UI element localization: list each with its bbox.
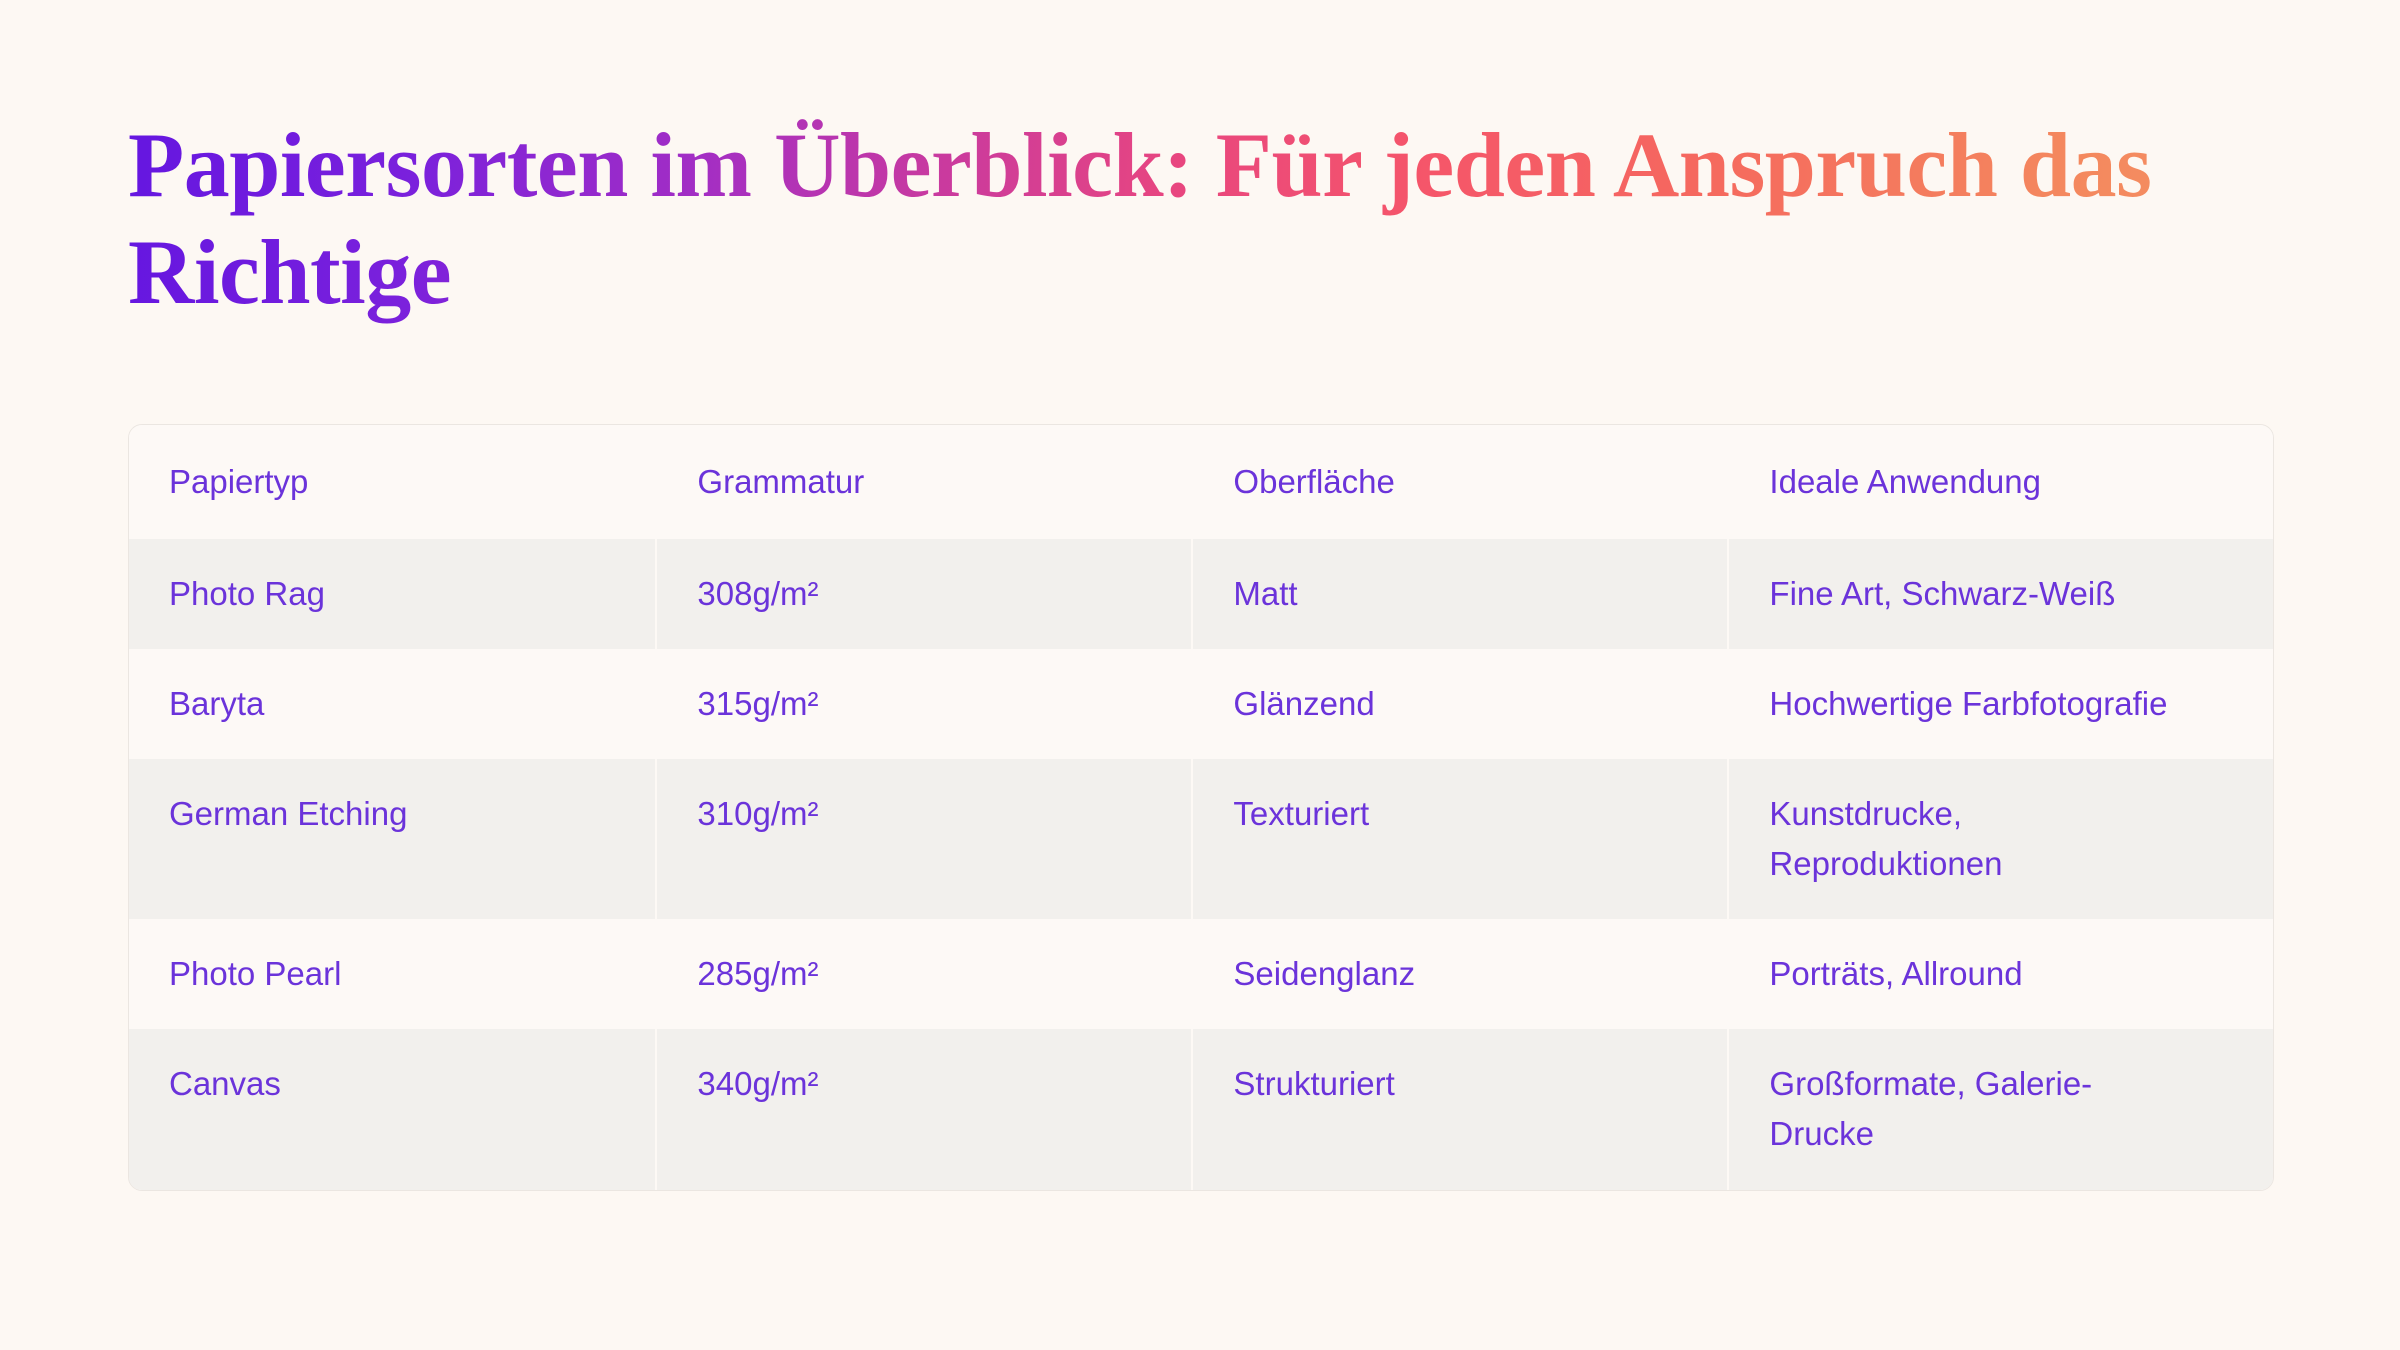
cell-oberflaeche: Seidenglanz: [1192, 919, 1728, 1029]
cell-papiertyp: Photo Rag: [129, 539, 656, 649]
cell-grammatur: 310g/m²: [656, 759, 1192, 919]
cell-text: Kunstdrucke, Reproduktionen: [1769, 789, 2189, 889]
cell-text: 340g/m²: [697, 1059, 1117, 1109]
cell-papiertyp: Canvas: [129, 1029, 656, 1189]
cell-grammatur: 315g/m²: [656, 649, 1192, 759]
cell-text: Fine Art, Schwarz-Weiß: [1769, 569, 2233, 619]
cell-text: Photo Pearl: [169, 949, 589, 999]
cell-papiertyp: Baryta: [129, 649, 656, 759]
cell-anwendung: Großformate, Galerie-Drucke: [1728, 1029, 2273, 1189]
cell-text: Großformate, Galerie-Drucke: [1769, 1059, 2189, 1159]
cell-text: Matt: [1233, 569, 1653, 619]
cell-text: 315g/m²: [697, 679, 1117, 729]
paper-types-table-card: Papiertyp Grammatur Oberfläche Ideale An…: [128, 424, 2274, 1191]
page-root: Papiersorten im Überblick: Für jeden Ans…: [0, 0, 2400, 1350]
cell-anwendung: Fine Art, Schwarz-Weiß: [1728, 539, 2273, 649]
cell-text: Seidenglanz: [1233, 949, 1653, 999]
cell-oberflaeche: Texturiert: [1192, 759, 1728, 919]
table-header-row: Papiertyp Grammatur Oberfläche Ideale An…: [129, 425, 2273, 539]
cell-text: 308g/m²: [697, 569, 1117, 619]
cell-text: Glänzend: [1233, 679, 1653, 729]
cell-text: Hochwertige Farbfotografie: [1769, 679, 2189, 729]
paper-types-table: Papiertyp Grammatur Oberfläche Ideale An…: [129, 425, 2273, 1190]
cell-text: Canvas: [169, 1059, 589, 1109]
cell-text: German Etching: [169, 789, 589, 839]
column-header-ideale-anwendung: Ideale Anwendung: [1728, 425, 2273, 539]
cell-anwendung: Kunstdrucke, Reproduktionen: [1728, 759, 2273, 919]
column-header-papiertyp: Papiertyp: [129, 425, 656, 539]
cell-oberflaeche: Matt: [1192, 539, 1728, 649]
column-header-grammatur: Grammatur: [656, 425, 1192, 539]
cell-text: 285g/m²: [697, 949, 1117, 999]
page-title: Papiersorten im Überblick: Für jeden Ans…: [128, 0, 2272, 325]
cell-text: Strukturiert: [1233, 1059, 1653, 1109]
table-body: Photo Rag 308g/m² Matt Fine Art, Schwarz…: [129, 539, 2273, 1190]
cell-papiertyp: Photo Pearl: [129, 919, 656, 1029]
table-row: Canvas 340g/m² Strukturiert Großformate,…: [129, 1029, 2273, 1189]
cell-grammatur: 308g/m²: [656, 539, 1192, 649]
column-header-oberflaeche: Oberfläche: [1192, 425, 1728, 539]
table-row: Photo Rag 308g/m² Matt Fine Art, Schwarz…: [129, 539, 2273, 649]
table-row: Baryta 315g/m² Glänzend Hochwertige Farb…: [129, 649, 2273, 759]
cell-text: Photo Rag: [169, 569, 589, 619]
cell-text: Baryta: [169, 679, 589, 729]
table-header: Papiertyp Grammatur Oberfläche Ideale An…: [129, 425, 2273, 539]
cell-oberflaeche: Strukturiert: [1192, 1029, 1728, 1189]
cell-grammatur: 340g/m²: [656, 1029, 1192, 1189]
cell-papiertyp: German Etching: [129, 759, 656, 919]
cell-grammatur: 285g/m²: [656, 919, 1192, 1029]
table-row: German Etching 310g/m² Texturiert Kunstd…: [129, 759, 2273, 919]
cell-text: Texturiert: [1233, 789, 1653, 839]
cell-text: 310g/m²: [697, 789, 1117, 839]
cell-anwendung: Hochwertige Farbfotografie: [1728, 649, 2273, 759]
cell-oberflaeche: Glänzend: [1192, 649, 1728, 759]
cell-anwendung: Porträts, Allround: [1728, 919, 2273, 1029]
cell-text: Porträts, Allround: [1769, 949, 2233, 999]
table-row: Photo Pearl 285g/m² Seidenglanz Porträts…: [129, 919, 2273, 1029]
